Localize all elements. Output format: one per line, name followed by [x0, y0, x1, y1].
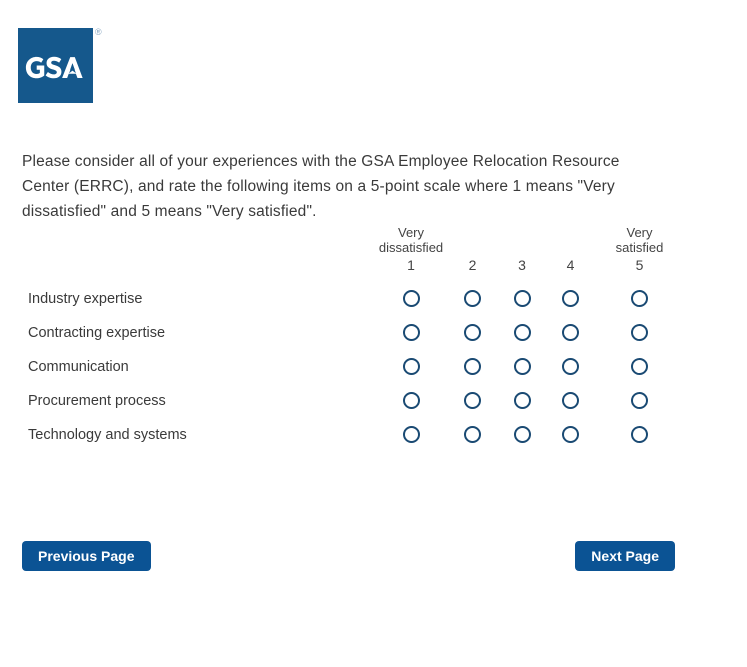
previous-page-button[interactable]: Previous Page: [22, 541, 151, 571]
radio-cell-r3-c5[interactable]: [597, 350, 682, 384]
radio-cell-r2-c5[interactable]: [597, 316, 682, 350]
radio-cell-r4-c4[interactable]: [544, 384, 597, 418]
next-page-button[interactable]: Next Page: [575, 541, 675, 571]
radio-cell-r5-c4[interactable]: [544, 418, 597, 452]
matrix-row-label-2: Contracting expertise: [22, 316, 377, 350]
col-anchor-line1-1: Very: [377, 225, 445, 240]
radio-button-industry-expertise-3[interactable]: [514, 290, 531, 307]
radio-button-technology-and-systems-2[interactable]: [464, 426, 481, 443]
radio-button-industry-expertise-5[interactable]: [631, 290, 648, 307]
radio-cell-r5-c1[interactable]: [377, 418, 445, 452]
intro-paragraph: Please consider all of your experiences …: [22, 149, 650, 224]
radio-button-contracting-expertise-4[interactable]: [562, 324, 579, 341]
radio-button-technology-and-systems-1[interactable]: [403, 426, 420, 443]
radio-button-contracting-expertise-1[interactable]: [403, 324, 420, 341]
radio-cell-r1-c5[interactable]: [597, 282, 682, 316]
matrix-col-header-1: Very dissatisfied 1: [377, 225, 445, 282]
footer-navigation: Previous Page Next Page: [0, 541, 747, 573]
table-row: Technology and systems: [22, 418, 682, 452]
col-number-5: 5: [597, 255, 682, 275]
radio-button-contracting-expertise-3[interactable]: [514, 324, 531, 341]
gsa-logo: ®: [18, 28, 110, 104]
radio-button-technology-and-systems-4[interactable]: [562, 426, 579, 443]
radio-cell-r2-c3[interactable]: [500, 316, 544, 350]
radio-cell-r5-c2[interactable]: [445, 418, 500, 452]
radio-button-industry-expertise-2[interactable]: [464, 290, 481, 307]
radio-button-communication-5[interactable]: [631, 358, 648, 375]
radio-cell-r1-c3[interactable]: [500, 282, 544, 316]
radio-button-contracting-expertise-2[interactable]: [464, 324, 481, 341]
gsa-wordmark-icon: [18, 28, 93, 103]
radio-cell-r5-c3[interactable]: [500, 418, 544, 452]
radio-button-communication-4[interactable]: [562, 358, 579, 375]
radio-cell-r5-c5[interactable]: [597, 418, 682, 452]
table-row: Industry expertise: [22, 282, 682, 316]
radio-button-communication-1[interactable]: [403, 358, 420, 375]
matrix-col-header-2: 2: [445, 225, 500, 282]
rating-matrix: Very dissatisfied 1 2 3 4: [0, 225, 747, 452]
table-row: Communication: [22, 350, 682, 384]
matrix-col-header-4: 4: [544, 225, 597, 282]
matrix-row-label-5: Technology and systems: [22, 418, 377, 452]
radio-cell-r4-c1[interactable]: [377, 384, 445, 418]
matrix-col-header-5: Very satisfied 5: [597, 225, 682, 282]
radio-button-technology-and-systems-3[interactable]: [514, 426, 531, 443]
matrix-row-label-3: Communication: [22, 350, 377, 384]
col-number-3: 3: [500, 255, 544, 275]
radio-button-industry-expertise-4[interactable]: [562, 290, 579, 307]
radio-button-procurement-process-5[interactable]: [631, 392, 648, 409]
radio-cell-r3-c1[interactable]: [377, 350, 445, 384]
radio-cell-r1-c1[interactable]: [377, 282, 445, 316]
radio-button-communication-3[interactable]: [514, 358, 531, 375]
radio-button-procurement-process-4[interactable]: [562, 392, 579, 409]
registered-trademark-icon: ®: [95, 28, 102, 37]
col-number-2: 2: [445, 255, 500, 275]
radio-cell-r2-c1[interactable]: [377, 316, 445, 350]
matrix-row-label-4: Procurement process: [22, 384, 377, 418]
col-anchor-line2-1: dissatisfied: [377, 240, 445, 255]
radio-cell-r3-c4[interactable]: [544, 350, 597, 384]
radio-cell-r4-c2[interactable]: [445, 384, 500, 418]
col-number-1: 1: [377, 255, 445, 275]
radio-cell-r1-c2[interactable]: [445, 282, 500, 316]
radio-cell-r4-c5[interactable]: [597, 384, 682, 418]
radio-button-industry-expertise-1[interactable]: [403, 290, 420, 307]
radio-cell-r3-c3[interactable]: [500, 350, 544, 384]
radio-cell-r2-c2[interactable]: [445, 316, 500, 350]
radio-cell-r4-c3[interactable]: [500, 384, 544, 418]
radio-button-procurement-process-2[interactable]: [464, 392, 481, 409]
table-row: Contracting expertise: [22, 316, 682, 350]
radio-button-technology-and-systems-5[interactable]: [631, 426, 648, 443]
matrix-row-label-1: Industry expertise: [22, 282, 377, 316]
radio-button-procurement-process-3[interactable]: [514, 392, 531, 409]
col-anchor-line1-5: Very: [597, 225, 682, 240]
matrix-header-spacer: [22, 225, 377, 282]
matrix-col-header-3: 3: [500, 225, 544, 282]
radio-button-contracting-expertise-5[interactable]: [631, 324, 648, 341]
radio-button-communication-2[interactable]: [464, 358, 481, 375]
matrix-header-row: Very dissatisfied 1 2 3 4: [22, 225, 682, 282]
radio-cell-r1-c4[interactable]: [544, 282, 597, 316]
radio-cell-r3-c2[interactable]: [445, 350, 500, 384]
radio-cell-r2-c4[interactable]: [544, 316, 597, 350]
radio-button-procurement-process-1[interactable]: [403, 392, 420, 409]
rating-matrix-table: Very dissatisfied 1 2 3 4: [22, 225, 682, 452]
col-anchor-line2-5: satisfied: [597, 240, 682, 255]
table-row: Procurement process: [22, 384, 682, 418]
col-number-4: 4: [544, 255, 597, 275]
